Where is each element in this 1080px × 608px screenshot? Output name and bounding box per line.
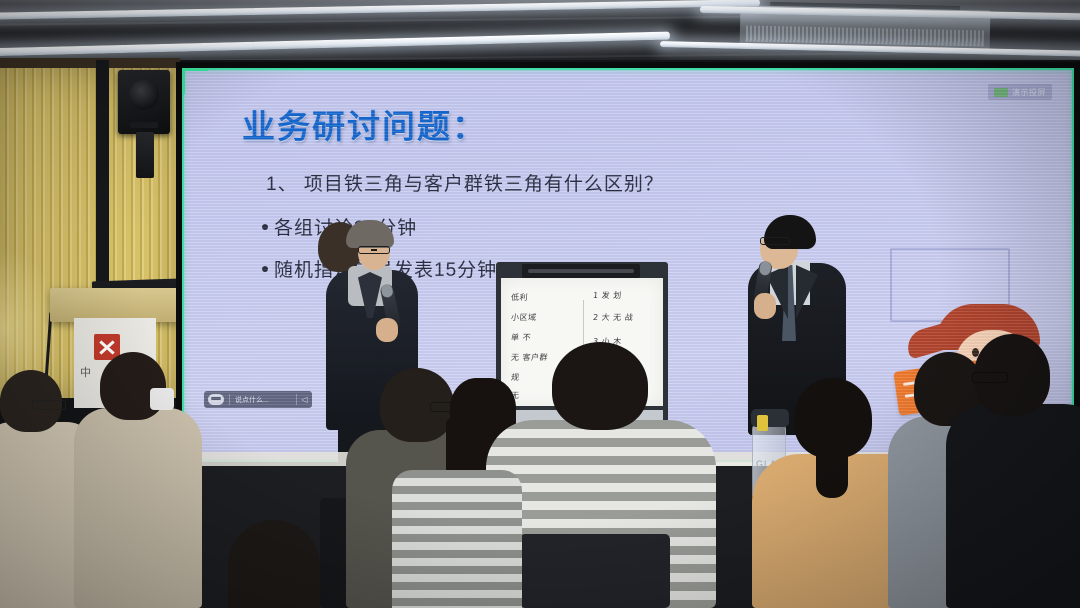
meeting-room-photo: 中 业务研讨问题： 1、 项目铁三角与客户群铁三角有什么区别？ 各组讨论30分钟… (0, 0, 1080, 608)
flipchart-note: 小区域 (510, 312, 537, 323)
comment-input-bar[interactable]: 说点什么... ◁ (204, 391, 312, 408)
speaker-cone (129, 80, 159, 110)
flipchart-clamp (522, 264, 640, 278)
eyeglasses-icon (32, 400, 66, 410)
flipchart-note: 低利 (510, 292, 528, 303)
chair (520, 534, 670, 608)
attendee-front-striped (392, 470, 522, 608)
presenter-hand (754, 293, 776, 319)
attendee-front-center (208, 520, 358, 608)
slide-question: 1、 项目铁三角与客户群铁三角有什么区别？ (266, 169, 664, 196)
bullet-dot-icon (262, 224, 268, 230)
speaker-port (130, 122, 158, 128)
attendee-body (74, 408, 202, 608)
attendee-black-jacket (962, 334, 1080, 608)
face-mask (150, 388, 174, 410)
wall-mounted-speaker (118, 70, 170, 134)
slide-title: 业务研讨问题： (242, 100, 487, 148)
bullet-dot-icon (262, 266, 268, 272)
comment-input-placeholder[interactable]: 说点什么... (230, 395, 296, 405)
flipchart-note: 1 发 划 (592, 290, 622, 301)
attendee-left-masked (78, 352, 196, 608)
share-icon[interactable]: ◁ (296, 394, 312, 405)
attendee-ponytail (816, 440, 848, 498)
speaker-mount-bracket (136, 132, 154, 178)
led-strip-light (0, 32, 670, 57)
keyboard-icon[interactable] (208, 394, 224, 405)
eyeglasses-icon (972, 372, 1008, 383)
presenter-hand (376, 318, 398, 342)
attendee-head (552, 342, 648, 430)
flipchart-note: 2 大 无 战 (592, 312, 633, 323)
attendee-body (946, 404, 1080, 608)
presenter-hair (346, 220, 394, 248)
cast-watermark: 演示投屏 (988, 84, 1052, 100)
eyeglasses-icon (358, 246, 390, 254)
attendee-head (228, 520, 320, 608)
wooden-lectern (50, 288, 180, 322)
cast-badge-icon (994, 88, 1008, 97)
eyeglasses-icon (760, 237, 790, 245)
attendee-body (392, 470, 522, 608)
cast-watermark-text: 演示投屏 (1012, 87, 1046, 98)
